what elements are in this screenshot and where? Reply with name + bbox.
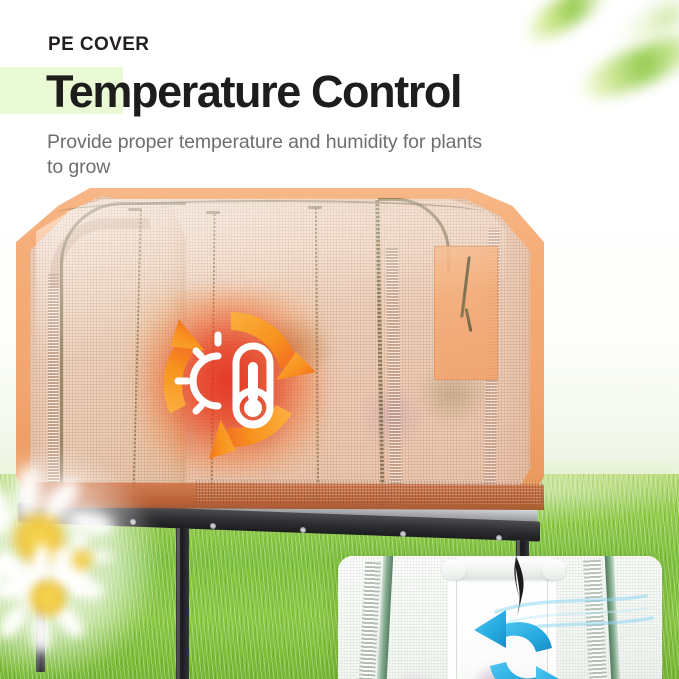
stand-leg [176,528,189,679]
roll-end-cap [442,560,466,580]
marketing-banner: Window for air circulation PE COVER Temp… [0,0,679,679]
callout-card: Window for air circulation [338,556,662,679]
cover-bottom-mesh [196,478,542,504]
thermometer-icon [236,346,270,425]
leaf-icon [519,0,615,50]
eyebrow-label: PE COVER [48,34,149,56]
subtitle-text: Provide proper temperature and humidity … [47,130,487,180]
product-photo: Window for air circulation [0,178,679,679]
callout-photo [338,556,662,679]
rail-screw [400,531,406,537]
seam-tab [128,208,142,211]
temperature-control-icon [140,290,322,472]
page-title: Temperature Control [46,66,461,118]
rail-screw [300,527,306,533]
leaf-icon [573,24,679,110]
seam-tab [206,211,220,214]
circular-arrows-icon [140,290,322,472]
seam-tab [308,206,322,209]
leaf-icon [612,0,679,55]
rail-screw [496,535,502,541]
air-circulation-arrows-icon [466,604,576,679]
roll-end-cap [542,560,566,580]
daisy-flower [52,530,114,590]
